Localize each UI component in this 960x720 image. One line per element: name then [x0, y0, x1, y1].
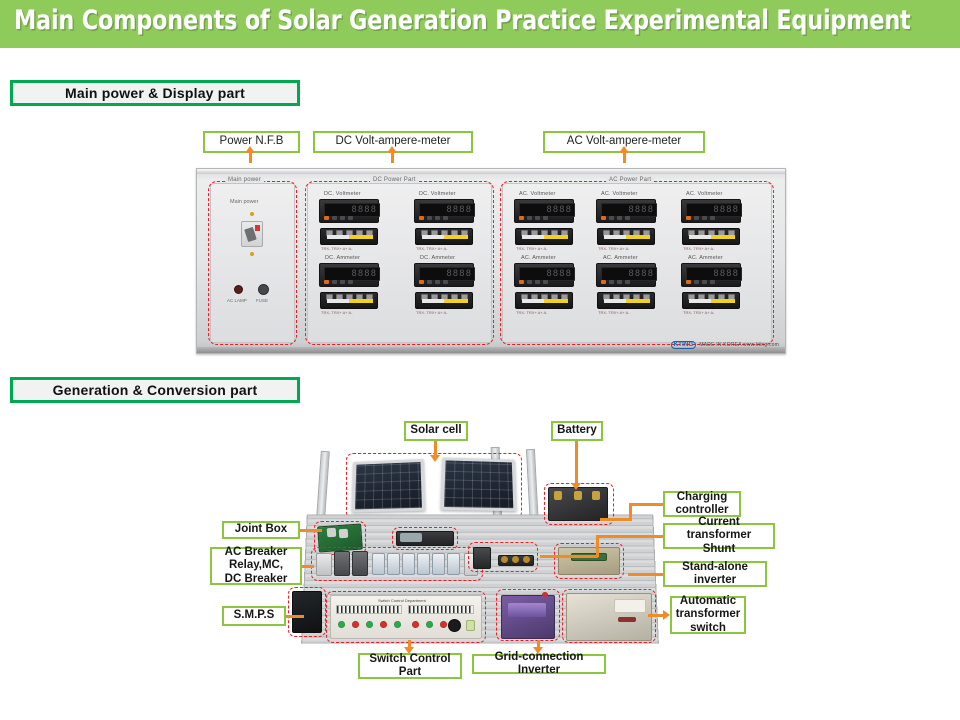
connector-stand-alone-inverter: [628, 573, 663, 576]
arrow-power-nfb: [245, 146, 255, 153]
connector-charging-controller-h: [629, 503, 663, 506]
arrow-switch-control-part: [404, 647, 414, 654]
main-power-heading: Main power: [230, 199, 258, 205]
brand-logo: KTING: [671, 341, 697, 349]
dc-breaker: [316, 553, 332, 576]
callout-charging-controller[interactable]: Charging controller: [663, 491, 741, 517]
joint-box-connector-2: [339, 529, 349, 539]
ac-meter-label-1: AC. Voltmeter: [601, 191, 638, 197]
ac-terminal-label-0: TRX- TRX+ A+ A-: [516, 246, 548, 251]
page-title: Main Components of Solar Generation Prac…: [14, 5, 911, 36]
callout-smps[interactable]: S.M.P.S: [222, 606, 286, 626]
arrow-battery: [571, 483, 581, 490]
arrow-ac-meter: [619, 146, 629, 153]
ac-terminal-label-4: TRX- TRX+ A+ A-: [598, 310, 630, 315]
callout-automatic-transformer-switch[interactable]: Automatic transformer switch: [670, 596, 746, 634]
emergency-stop-area[interactable]: [466, 620, 475, 631]
dc-terminal-2[interactable]: [320, 292, 378, 309]
callout-stand-alone-inverter[interactable]: Stand-alone inverter: [663, 561, 767, 587]
callout-battery[interactable]: Battery: [551, 421, 603, 441]
dc-terminal-label-1: TRX- TRX+ A+ A-: [416, 246, 448, 251]
main-power-breaker-switch[interactable]: [241, 221, 263, 247]
callout-ac-breaker[interactable]: AC Breaker Relay,MC, DC Breaker: [210, 547, 302, 585]
dc-terminal-1[interactable]: [415, 228, 473, 245]
dc-terminal-0[interactable]: [320, 228, 378, 245]
terminal-yellow: [349, 299, 373, 303]
ac-meter-buttons-5[interactable]: [686, 279, 738, 284]
group-title-main-power: Main power: [225, 177, 264, 183]
switch-led-row-left: [338, 621, 401, 628]
ac-lamp-label: AC LAMP: [227, 298, 247, 303]
ats-warning-strip: [618, 617, 636, 622]
dc-terminal-3[interactable]: [415, 292, 473, 309]
group-title-dc-power: DC Power Part: [370, 177, 419, 183]
ac-meter-1[interactable]: 8888: [596, 199, 656, 223]
section-header-main-power-display: Main power & Display part: [10, 80, 300, 106]
dashed-main-power: [208, 181, 297, 345]
terminal-yellow: [544, 235, 568, 239]
connector-joint-box: [300, 529, 322, 532]
ac-meter-4[interactable]: 8888: [596, 263, 656, 287]
relay-6: [447, 553, 460, 575]
dc-terminal-label-3: TRX- TRX+ A+ A-: [416, 310, 448, 315]
equipment-rig-photo: Switch Control Department: [296, 443, 666, 648]
ac-meter-buttons-1[interactable]: [601, 215, 653, 220]
led-green-1: [338, 621, 345, 628]
battery-terminal-3: [592, 491, 600, 500]
dc-meter-label-3: DC. Ammeter: [420, 255, 455, 261]
terminal-yellow: [626, 299, 650, 303]
switch-control-panel-title: Switch Control Department: [378, 598, 426, 603]
ac-meter-label-3: AC. Ammeter: [521, 255, 556, 261]
ac-terminal-0[interactable]: [515, 228, 573, 245]
callout-solar-cell[interactable]: Solar cell: [404, 421, 468, 441]
group-title-ac-power: AC Power Part: [606, 177, 654, 183]
solar-panel-left: [352, 459, 425, 512]
terminal-yellow: [444, 299, 468, 303]
ac-meter-buttons-4[interactable]: [601, 279, 653, 284]
dc-meter-1[interactable]: 8888: [414, 199, 474, 223]
indicator-lamp-bottom: [250, 252, 254, 256]
grid-connection-inverter-unit: [501, 595, 555, 639]
dc-meter-2[interactable]: 8888: [319, 263, 379, 287]
relay-2: [387, 553, 400, 575]
brand-text: MADE IN KOREA www.kting.com: [699, 342, 779, 348]
fuse-label: FUSE: [256, 298, 268, 303]
led-red-4: [440, 621, 447, 628]
current-transformer-unit: [473, 547, 491, 569]
ac-meter-0[interactable]: 8888: [514, 199, 574, 223]
terminal-yellow: [711, 299, 735, 303]
magnetic-contactor-2: [352, 551, 368, 576]
ac-terminal-2[interactable]: [682, 228, 740, 245]
ac-terminal-label-2: TRX- TRX+ A+ A-: [683, 246, 715, 251]
relay-4: [417, 553, 430, 575]
ac-terminal-1[interactable]: [597, 228, 655, 245]
battery-terminal-1: [554, 491, 562, 500]
solar-panel-right: [441, 458, 517, 512]
connector-ac-breaker: [302, 565, 314, 568]
arrow-dc-meter: [387, 146, 397, 153]
ac-terminal-5[interactable]: [682, 292, 740, 309]
switch-terminal-strip-right[interactable]: [408, 605, 474, 614]
ac-meter-label-4: AC. Ammeter: [603, 255, 638, 261]
dc-terminal-label-2: TRX- TRX+ A+ A-: [321, 310, 353, 315]
ac-meter-buttons-3[interactable]: [519, 279, 571, 284]
dc-meter-label-0: DC. Voltmeter: [324, 191, 361, 197]
dc-meter-buttons-0[interactable]: [324, 215, 376, 220]
dc-meter-buttons-3[interactable]: [419, 279, 471, 284]
ac-meter-buttons-0[interactable]: [519, 215, 571, 220]
connector-current-transformer-h: [596, 535, 663, 538]
arrow-automatic-transformer-switch: [663, 610, 670, 620]
dc-meter-buttons-2[interactable]: [324, 279, 376, 284]
led-red-2: [380, 621, 387, 628]
ac-terminal-4[interactable]: [597, 292, 655, 309]
callout-switch-control-part[interactable]: Switch Control Part: [358, 653, 462, 679]
shunt-terminal-2: [512, 556, 519, 563]
dc-terminal-label-0: TRX- TRX+ A+ A-: [321, 246, 353, 251]
ac-terminal-label-1: TRX- TRX+ A+ A-: [598, 246, 630, 251]
terminal-yellow: [444, 235, 468, 239]
breaker-red-marker: [255, 225, 260, 231]
stand-alone-inverter-unit: [558, 547, 620, 575]
connector-current-transformer-v: [596, 535, 599, 557]
ac-meter-label-0: AC. Voltmeter: [519, 191, 556, 197]
connector-battery: [575, 441, 578, 485]
ac-terminal-3[interactable]: [515, 292, 573, 309]
grid-inverter-indicator: [542, 592, 548, 597]
ac-meter-label-5: AC. Ammeter: [688, 255, 723, 261]
terminal-yellow: [544, 299, 568, 303]
ac-lamp: [234, 285, 243, 294]
connector-ac-meter: [623, 153, 626, 163]
callout-current-transformer[interactable]: Current transformer Shunt: [663, 523, 775, 549]
terminal-yellow: [711, 235, 735, 239]
battery-terminal-2: [574, 491, 582, 500]
ac-terminal-label-3: TRX- TRX+ A+ A-: [516, 310, 548, 315]
indicator-lamp-top: [250, 212, 254, 216]
ats-label-plate: [614, 599, 646, 613]
dc-meter-label-2: DC. Ammeter: [325, 255, 360, 261]
control-panel-photo: Main power Main power AC LAMP FUSE DC Po…: [196, 168, 786, 354]
led-green-3: [394, 621, 401, 628]
relay-3: [402, 553, 415, 575]
connector-charging-controller-h2: [600, 518, 632, 521]
joint-box-connector-1: [327, 528, 337, 538]
connector-power-nfb: [249, 153, 252, 163]
smps-unit: [292, 591, 322, 633]
ac-meter-5[interactable]: 8888: [681, 263, 741, 287]
dc-meter-3[interactable]: 8888: [414, 263, 474, 287]
dc-meter-0[interactable]: 8888: [319, 199, 379, 223]
shunt-terminal-1: [501, 556, 508, 563]
panel-brand: KTING MADE IN KOREA www.kting.com: [671, 341, 779, 349]
terminal-yellow: [349, 235, 373, 239]
relay-1: [372, 553, 385, 575]
ac-meter-label-2: AC. Voltmeter: [686, 191, 723, 197]
slide-page: Main Components of Solar Generation Prac…: [0, 0, 960, 720]
ac-meter-3[interactable]: 8888: [514, 263, 574, 287]
shunt-terminal-3: [523, 556, 530, 563]
arrow-grid-connection-inverter: [533, 647, 543, 654]
dc-meter-label-1: DC. Voltmeter: [419, 191, 456, 197]
led-green-4: [426, 621, 433, 628]
section-header-generation-conversion: Generation & Conversion part: [10, 377, 300, 403]
connector-current-transformer-h2: [540, 555, 598, 558]
page-header: Main Components of Solar Generation Prac…: [0, 0, 960, 48]
connector-smps: [286, 615, 304, 618]
rotary-selector-knob[interactable]: [448, 619, 461, 632]
controller-display: [400, 533, 422, 542]
ac-terminal-label-5: TRX- TRX+ A+ A-: [683, 310, 715, 315]
panel-top-edge: [197, 169, 785, 174]
led-red-1: [352, 621, 359, 628]
ac-meter-2[interactable]: 8888: [681, 199, 741, 223]
callout-grid-connection-inverter[interactable]: Grid-connection Inverter: [472, 654, 606, 674]
switch-terminal-strip-left[interactable]: [336, 605, 402, 614]
terminal-yellow: [626, 235, 650, 239]
ac-meter-buttons-2[interactable]: [686, 215, 738, 220]
led-green-2: [366, 621, 373, 628]
dc-meter-buttons-1[interactable]: [419, 215, 471, 220]
grid-inverter-face-plate: [508, 603, 546, 617]
fuse-holder[interactable]: [258, 284, 269, 295]
led-red-3: [412, 621, 419, 628]
arrow-solar-cell: [430, 455, 440, 462]
switch-led-row-right: [412, 621, 447, 628]
callout-joint-box[interactable]: Joint Box: [222, 521, 300, 539]
connector-automatic-transformer-switch: [648, 614, 664, 617]
relay-5: [432, 553, 445, 575]
magnetic-contactor-1: [334, 551, 350, 576]
connector-dc-meter: [391, 153, 394, 163]
